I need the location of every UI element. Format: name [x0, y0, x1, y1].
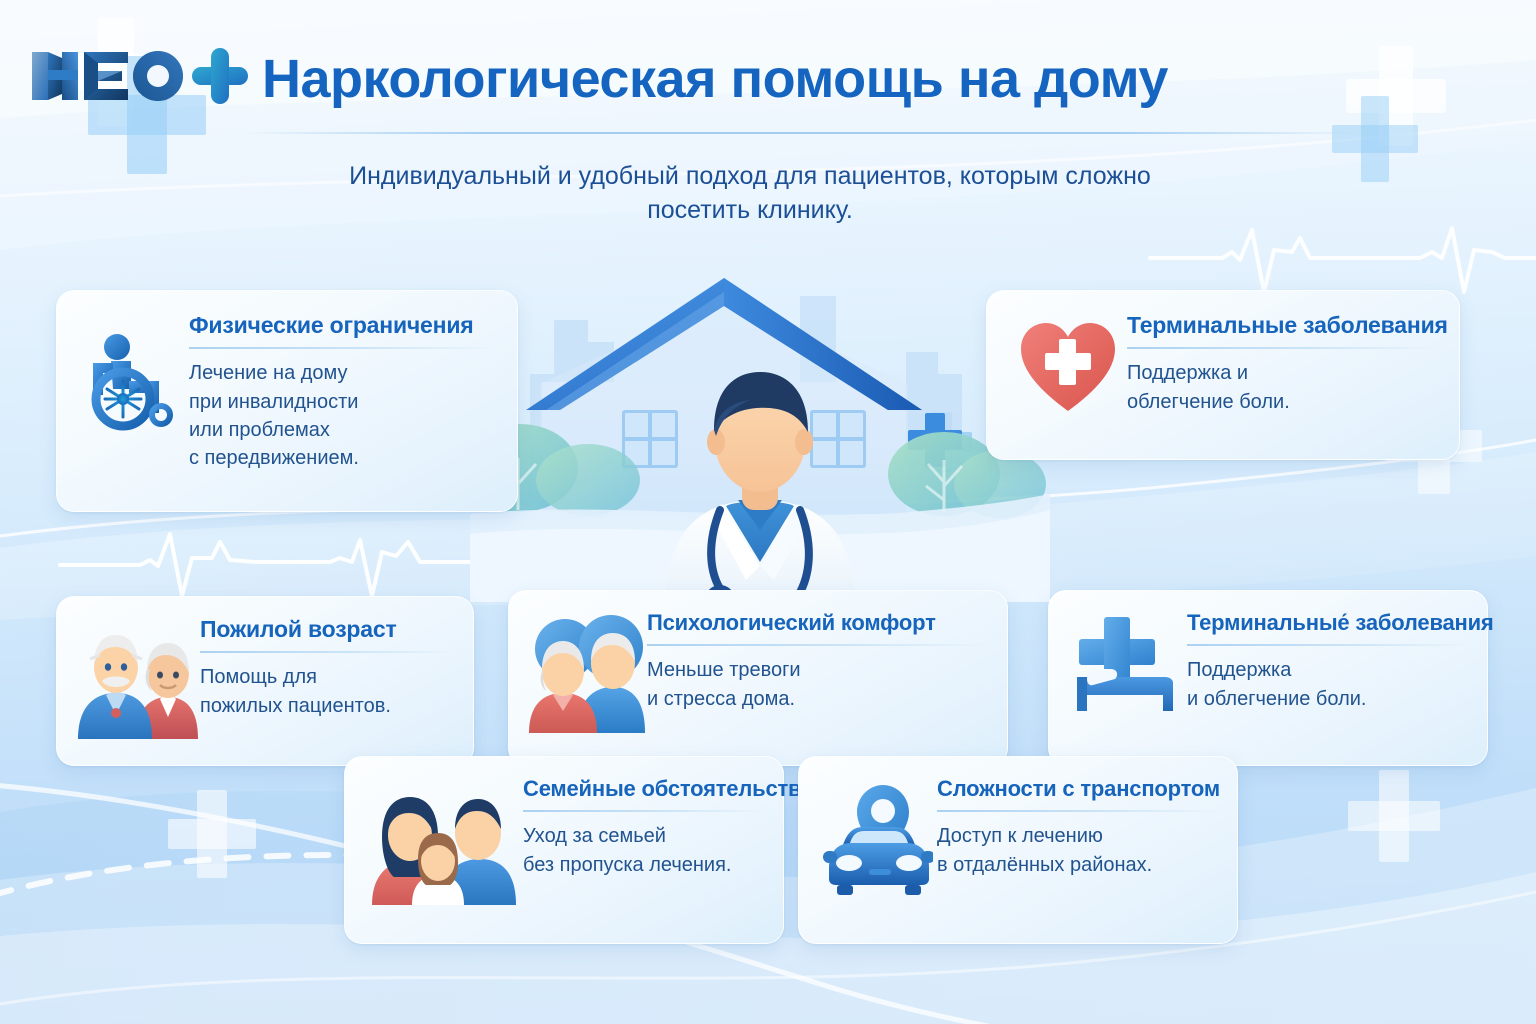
two-people-icon: [527, 611, 647, 733]
card-body: Терминальные заболевания Поддержка и обл…: [1127, 313, 1439, 416]
page-title: Наркологическая помощь на дому: [262, 48, 1168, 110]
card-text: Помощь для пожилых пациентов.: [200, 663, 455, 720]
elderly-couple-icon: [75, 617, 200, 739]
card-rule: [647, 644, 989, 646]
card-terminal-illness-bed[interactable]: Терминальные́ заболевания Поддержка и об…: [1048, 590, 1488, 766]
card-heading: Семейные обстоятельства: [523, 777, 765, 801]
card-rule: [200, 651, 455, 653]
card-rule: [1127, 347, 1439, 349]
card-text: Поддержка и облегчение боли.: [1187, 656, 1471, 713]
wheelchair-icon: [79, 313, 189, 433]
card-heading: Физические ограничения: [189, 313, 497, 338]
card-physical-limitations[interactable]: Физические ограничения Лечение на дому п…: [56, 290, 518, 512]
card-heading: Терминальные́ заболевания: [1187, 611, 1471, 635]
heart-cross-icon: [1009, 313, 1127, 415]
car-shape: [823, 827, 933, 895]
card-body: Сложности с транспортом Доступ к лечению…: [937, 777, 1219, 879]
card-text: Меньше тревоги и стресса дома.: [647, 656, 989, 713]
card-text: Лечение на дому при инвалидности или про…: [189, 359, 497, 473]
card-body: Физические ограничения Лечение на дому п…: [189, 313, 497, 473]
doctor-at-home-illustration: [470, 262, 1050, 602]
card-heading: Психологический комфорт: [647, 611, 989, 635]
card-family-circumstances[interactable]: Семейные обстоятельства Уход за семьей б…: [344, 756, 784, 944]
logo-letter-O: [133, 51, 183, 101]
card-heading: Сложности с транспортом: [937, 777, 1219, 801]
header-divider: [240, 132, 1360, 134]
page-subtitle: Индивидуальный и удобный подход для паци…: [300, 160, 1200, 228]
logo-letter-E: [84, 52, 128, 100]
wheelchair-head: [104, 334, 130, 360]
card-text: Доступ к лечению в отдалённых районах.: [937, 822, 1219, 879]
brand-logo[interactable]: [22, 40, 262, 112]
hospital-bed-cross-icon: [1067, 611, 1187, 729]
card-rule: [523, 810, 765, 812]
card-body: Семейные обстоятельства Уход за семьей б…: [523, 777, 765, 879]
card-text: Поддержка и облегчение боли.: [1127, 359, 1439, 416]
ecg-heartbeat-line: [60, 534, 470, 596]
card-rule: [1187, 644, 1471, 646]
card-rule: [937, 810, 1219, 812]
card-rule: [189, 347, 497, 349]
family-icon: [363, 777, 523, 905]
logo-plus-icon: [192, 48, 248, 104]
card-heading: Пожилой возраст: [200, 617, 455, 642]
logo-letter-N: [32, 52, 78, 100]
car-pin-icon: [817, 777, 937, 905]
plus-cross-icon: [168, 790, 256, 878]
card-body: Психологический комфорт Меньше тревоги и…: [647, 611, 989, 713]
plus-cross-icon: [1348, 770, 1440, 862]
infographic-canvas: Наркологическая помощь на дому Индивидуа…: [0, 0, 1536, 1024]
card-body: Терминальные́ заболевания Поддержка и об…: [1187, 611, 1471, 713]
page-header: Наркологическая помощь на дому: [0, 0, 1536, 150]
card-elderly-age[interactable]: Пожилой возраст Помощь для пожилых пацие…: [56, 596, 474, 766]
card-heading: Терминальные заболевания: [1127, 313, 1439, 338]
card-text: Уход за семьей без пропуска лечения.: [523, 822, 765, 879]
card-terminal-illness-heart[interactable]: Терминальные заболевания Поддержка и обл…: [986, 290, 1460, 460]
card-psychological-comfort[interactable]: Психологический комфорт Меньше тревоги и…: [508, 590, 1008, 766]
ecg-heartbeat-line-top: [1150, 228, 1536, 292]
card-body: Пожилой возраст Помощь для пожилых пацие…: [200, 617, 455, 720]
card-transport-difficulty[interactable]: Сложности с транспортом Доступ к лечению…: [798, 756, 1238, 944]
